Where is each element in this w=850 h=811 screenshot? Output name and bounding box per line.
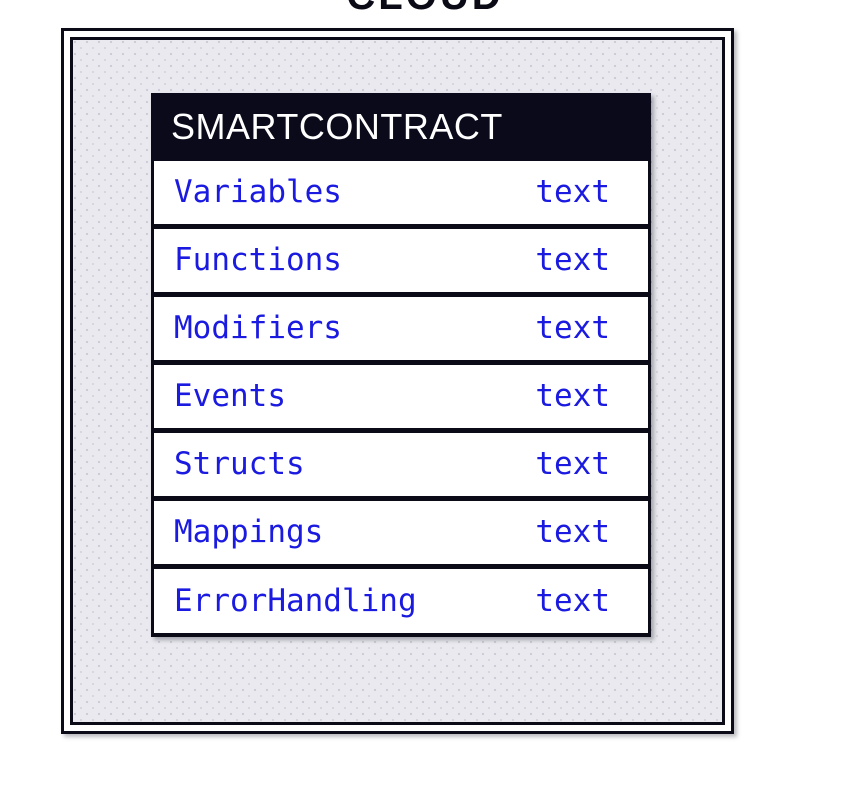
table-row: Functions text bbox=[151, 229, 651, 297]
attribute-type: text bbox=[521, 586, 610, 617]
table-row: Events text bbox=[151, 365, 651, 433]
table-row: Structs text bbox=[151, 433, 651, 501]
entity-header: SMARTCONTRACT bbox=[151, 93, 651, 161]
table-row: Modifiers text bbox=[151, 297, 651, 365]
attribute-name: Functions bbox=[174, 245, 342, 276]
attribute-type: text bbox=[521, 517, 610, 548]
attribute-type: text bbox=[521, 381, 610, 412]
table-row: Mappings text bbox=[151, 501, 651, 569]
entity-table-smartcontract: SMARTCONTRACT Variables text Functions t… bbox=[151, 93, 651, 637]
page-title: CLOUD bbox=[0, 0, 850, 19]
attribute-name: Variables bbox=[174, 177, 342, 208]
attribute-type: text bbox=[521, 245, 610, 276]
entity-name-label: SMARTCONTRACT bbox=[171, 109, 503, 145]
attribute-name: Events bbox=[174, 381, 286, 412]
table-row: Variables text bbox=[151, 161, 651, 229]
attribute-name: Mappings bbox=[174, 517, 323, 548]
attribute-name: ErrorHandling bbox=[174, 586, 417, 617]
attribute-type: text bbox=[521, 177, 610, 208]
attribute-name: Structs bbox=[174, 449, 305, 480]
attribute-name: Modifiers bbox=[174, 313, 342, 344]
diagram-frame: SMARTCONTRACT Variables text Functions t… bbox=[61, 28, 734, 734]
attribute-type: text bbox=[521, 449, 610, 480]
attribute-type: text bbox=[521, 313, 610, 344]
table-row: ErrorHandling text bbox=[151, 569, 651, 637]
